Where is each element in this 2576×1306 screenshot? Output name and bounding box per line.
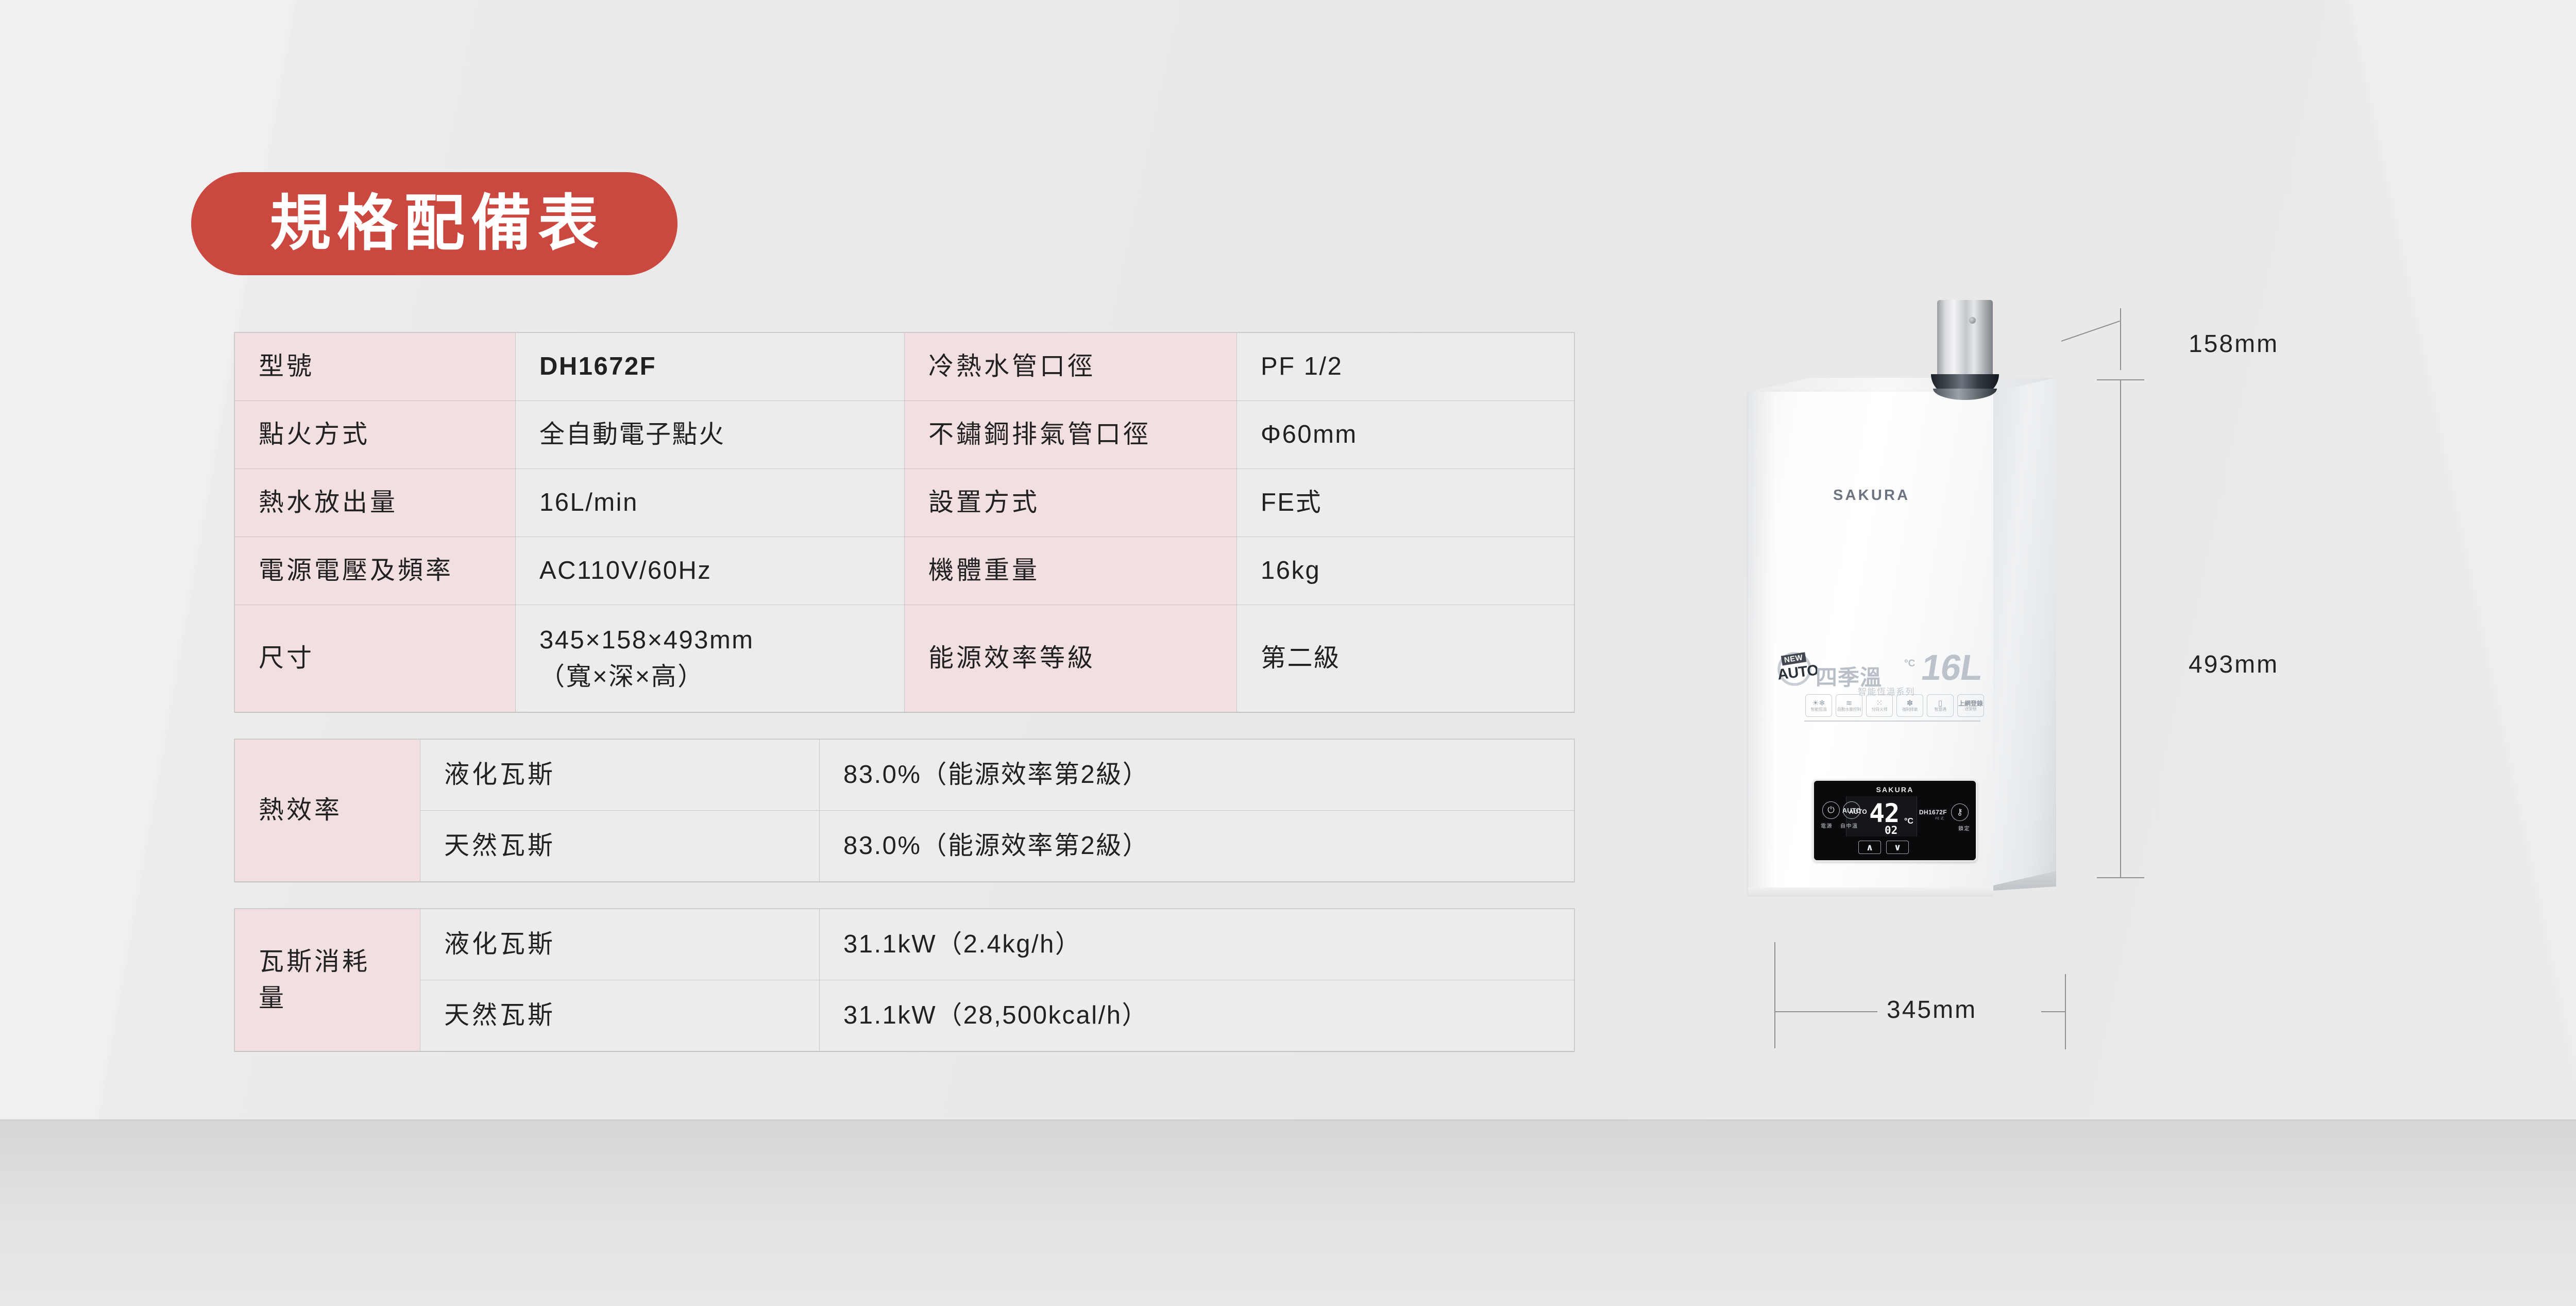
spec-value-lpg-efficiency: 83.0%（能源效率第2級） bbox=[820, 740, 1574, 811]
table-row: 電源電壓及頻率 AC110V/60Hz 機體重量 16kg bbox=[235, 537, 1574, 605]
thermal-efficiency-table: 熱效率 液化瓦斯 83.0%（能源效率第2級） 天然瓦斯 83.0%（能源效率第… bbox=[234, 739, 1574, 882]
table-row: 點火方式 全自動電子點火 不鏽鋼排氣管口徑 Φ60mm bbox=[235, 401, 1574, 469]
table-row: 瓦斯消耗量 液化瓦斯 31.1kW（2.4kg/h） bbox=[235, 909, 1574, 980]
spec-label-natural-gas-efficiency: 天然瓦斯 bbox=[420, 811, 820, 882]
spec-label-voltage-frequency: 電源電壓及頻率 bbox=[235, 537, 516, 605]
spec-label-ignition: 點火方式 bbox=[235, 401, 516, 469]
spec-label-energy-efficiency-grade: 能源效率等級 bbox=[905, 605, 1237, 712]
lcd-temperature-value: 42 bbox=[1869, 800, 1899, 826]
spec-value-natural-gas-consumption: 31.1kW（28,500kcal/h） bbox=[820, 980, 1574, 1051]
feature-label: 送安檢 bbox=[1964, 707, 1976, 711]
page-title: 規格配備表 bbox=[264, 193, 605, 254]
cabinet-highlight bbox=[1748, 392, 1776, 896]
lcd-temperature-unit: °C bbox=[1904, 817, 1913, 826]
lock-button-label: 鎖定 bbox=[1958, 824, 1970, 832]
auto-mode-button[interactable]: AUTO bbox=[1843, 801, 1860, 819]
lock-button[interactable]: ⚷ bbox=[1951, 803, 1969, 821]
spec-label-dimensions: 尺寸 bbox=[235, 605, 516, 712]
spec-value-weight: 16kg bbox=[1237, 537, 1574, 605]
spec-label-water-pipe-diameter: 冷熱水管口徑 bbox=[905, 333, 1237, 401]
spec-value-installation-type: FE式 bbox=[1237, 469, 1574, 537]
feature-icon-smart-app: ▯ 智慧通 bbox=[1927, 694, 1954, 717]
chevron-down-icon: ∨ bbox=[1894, 842, 1902, 853]
specification-tables: 型號 DH1672F 冷熱水管口徑 PF 1/2 點火方式 全自動電子點火 不鏽… bbox=[234, 332, 1574, 1051]
spec-label-lpg-efficiency: 液化瓦斯 bbox=[420, 740, 820, 811]
table-row: 天然瓦斯 83.0%（能源效率第2級） bbox=[235, 811, 1574, 882]
spec-label-natural-gas-consumption: 天然瓦斯 bbox=[420, 980, 820, 1051]
table-row: 天然瓦斯 31.1kW（28,500kcal/h） bbox=[235, 980, 1574, 1051]
spec-value-exhaust-pipe-diameter: Φ60mm bbox=[1237, 401, 1574, 469]
table-gap bbox=[234, 882, 1574, 909]
product-brand-logo: SAKURA bbox=[1833, 487, 1910, 504]
feature-icon-burner-stages: ⁙ 分段火排 bbox=[1866, 694, 1893, 717]
spec-value-dimensions-line2: （寬×深×高） bbox=[539, 659, 880, 695]
table-row: 尺寸 345×158×493mm （寬×深×高） 能源效率等級 第二級 bbox=[235, 605, 1574, 712]
feature-label: 自動水量控制 bbox=[1837, 708, 1861, 712]
product-feature-decal: NEW AUTO 四季溫 °C 智能恆溫系列 16L ☀❄ 智能恆溫 ≋ 自動水… bbox=[1775, 647, 1982, 719]
auto-mode-button-label: 自中溫 bbox=[1840, 822, 1858, 829]
decal-degree-label: °C bbox=[1904, 658, 1915, 669]
spec-value-energy-efficiency-grade: 第二級 bbox=[1237, 605, 1574, 712]
power-button[interactable]: ⏻ bbox=[1822, 801, 1840, 819]
temperature-down-button[interactable]: ∨ bbox=[1886, 841, 1909, 854]
background-floor-band bbox=[0, 1119, 2576, 1306]
temperature-up-button[interactable]: ∧ bbox=[1858, 841, 1881, 854]
smartphone-icon: ▯ bbox=[1938, 699, 1942, 707]
spec-label-model: 型號 bbox=[235, 333, 516, 401]
feature-icon-forced-exhaust: ✽ 強制排氣 bbox=[1896, 694, 1923, 717]
register-online-icon: 上網登錄 bbox=[1958, 700, 1983, 707]
spec-label-weight: 機體重量 bbox=[905, 537, 1237, 605]
spec-label-exhaust-pipe-diameter: 不鏽鋼排氣管口徑 bbox=[905, 401, 1237, 469]
spec-label-lpg-consumption: 液化瓦斯 bbox=[420, 909, 820, 980]
feature-label: 分段火排 bbox=[1872, 708, 1888, 712]
panel-model-subtitle: FE 式 bbox=[1935, 816, 1944, 821]
feature-label: 強制排氣 bbox=[1902, 708, 1918, 712]
spec-value-hot-water-output: 16L/min bbox=[516, 469, 905, 537]
spec-value-model: DH1672F bbox=[516, 333, 905, 401]
fan-icon: ✽ bbox=[1907, 699, 1913, 707]
sun-snowflake-icon: ☀❄ bbox=[1812, 699, 1825, 707]
spec-value-dimensions: 345×158×493mm （寬×深×高） bbox=[516, 605, 905, 712]
cabinet-bottom-edge bbox=[1748, 888, 1993, 897]
spec-label-thermal-efficiency: 熱效率 bbox=[235, 740, 420, 882]
main-spec-table: 型號 DH1672F 冷熱水管口徑 PF 1/2 點火方式 全自動電子點火 不鏽… bbox=[234, 332, 1574, 712]
chevron-up-icon: ∧ bbox=[1866, 842, 1874, 853]
control-panel[interactable]: SAKURA AUTO 42 °C 02 ⏻ 電源 AUTO 自中溫 ⚷ 鎖定 … bbox=[1812, 779, 1977, 862]
spec-value-water-pipe-diameter: PF 1/2 bbox=[1237, 333, 1574, 401]
spec-value-lpg-consumption: 31.1kW（2.4kg/h） bbox=[820, 909, 1574, 980]
decal-capacity-label: 16L bbox=[1919, 647, 1986, 688]
feature-label: 智慧通 bbox=[1934, 708, 1946, 712]
auto-icon: AUTO bbox=[1842, 807, 1861, 814]
exhaust-flue bbox=[1937, 300, 1993, 377]
decal-feature-icons: ☀❄ 智能恆溫 ≋ 自動水量控制 ⁙ 分段火排 ✽ 強制排氣 ▯ 智慧通 上網登… bbox=[1805, 694, 1984, 717]
feature-icon-thermostat: ☀❄ 智能恆溫 bbox=[1805, 694, 1832, 717]
table-gap bbox=[234, 712, 1574, 739]
table-row: 熱水放出量 16L/min 設置方式 FE式 bbox=[235, 469, 1574, 537]
spec-label-hot-water-output: 熱水放出量 bbox=[235, 469, 516, 537]
table-row: 熱效率 液化瓦斯 83.0%（能源效率第2級） bbox=[235, 740, 1574, 811]
flue-screw-icon bbox=[1969, 317, 1976, 324]
gas-consumption-table: 瓦斯消耗量 液化瓦斯 31.1kW（2.4kg/h） 天然瓦斯 31.1kW（2… bbox=[234, 909, 1574, 1051]
spec-label-installation-type: 設置方式 bbox=[905, 469, 1237, 537]
water-flow-icon: ≋ bbox=[1846, 699, 1853, 707]
burner-icon: ⁙ bbox=[1876, 699, 1883, 707]
spec-value-natural-gas-efficiency: 83.0%（能源效率第2級） bbox=[820, 811, 1574, 882]
panel-brand-logo: SAKURA bbox=[1814, 785, 1976, 794]
panel-model-number: DH1672F bbox=[1919, 809, 1947, 816]
power-button-label: 電源 bbox=[1821, 822, 1833, 829]
table-row: 型號 DH1672F 冷熱水管口徑 PF 1/2 bbox=[235, 333, 1574, 401]
spec-value-voltage-frequency: AC110V/60Hz bbox=[516, 537, 905, 605]
power-icon: ⏻ bbox=[1827, 805, 1834, 815]
page-title-badge: 規格配備表 bbox=[191, 172, 677, 275]
spec-label-gas-consumption: 瓦斯消耗量 bbox=[235, 909, 420, 1051]
feature-icon-register-online: 上網登錄 送安檢 bbox=[1957, 694, 1984, 717]
feature-label: 智能恆溫 bbox=[1811, 708, 1827, 712]
lcd-sub-code: 02 bbox=[1885, 825, 1897, 836]
lock-icon: ⚷ bbox=[1957, 807, 1963, 817]
cabinet-side-panel bbox=[1993, 378, 2056, 886]
spec-value-dimensions-line1: 345×158×493mm bbox=[539, 622, 880, 659]
feature-icon-water-control: ≋ 自動水量控制 bbox=[1836, 694, 1862, 717]
spec-value-ignition: 全自動電子點火 bbox=[516, 401, 905, 469]
background-floor-edge bbox=[0, 1119, 2576, 1121]
decal-divider bbox=[1804, 721, 1980, 722]
